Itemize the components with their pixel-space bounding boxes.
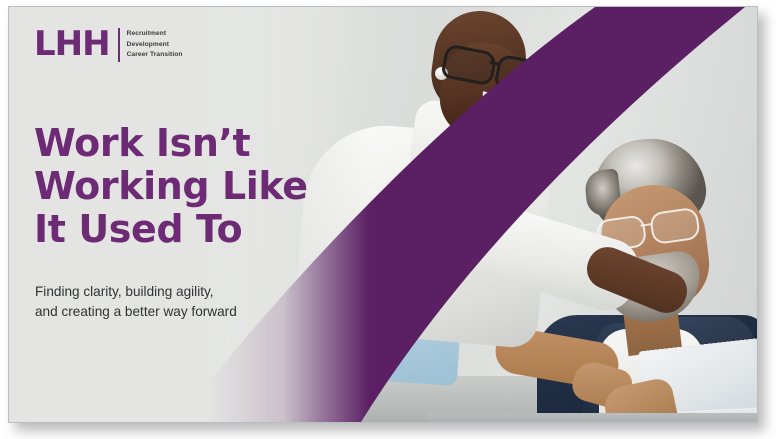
logo-wordmark: LHH — [34, 27, 110, 61]
logo-divider — [118, 28, 120, 62]
headline-line-2: Working Like — [34, 165, 334, 208]
slide-subtitle: Finding clarity, building agility, and c… — [35, 282, 325, 322]
logo-tagline-line-2: Development — [127, 41, 170, 48]
slide-headline: Work Isn’t Working Like It Used To — [34, 122, 334, 251]
lhh-logo: LHH Recruitment Development Career Trans… — [34, 27, 183, 62]
logo-tagline: Recruitment Development Career Transitio… — [127, 27, 183, 61]
logo-tagline-line-1: Recruitment — [127, 30, 167, 37]
headline-line-1: Work Isn’t — [34, 122, 334, 165]
slide-canvas: LHH Recruitment Development Career Trans… — [8, 6, 758, 423]
subtitle-line-1: Finding clarity, building agility, — [35, 282, 325, 302]
logo-tagline-line-3: Career Transition — [127, 51, 183, 58]
headline-line-3: It Used To — [34, 208, 334, 251]
subtitle-line-2: and creating a better way forward — [35, 302, 325, 322]
